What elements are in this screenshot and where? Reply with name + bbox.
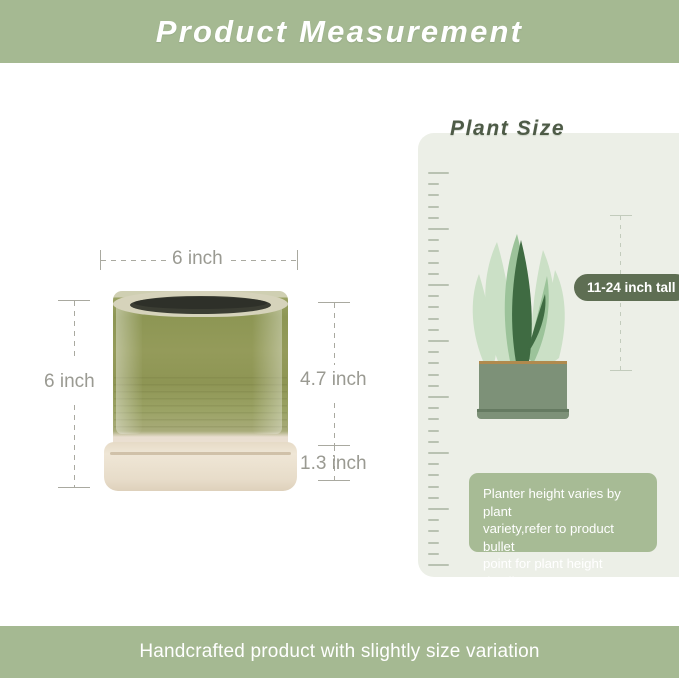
ruler-tick-major	[428, 396, 449, 398]
ruler-tick-minor	[428, 519, 439, 521]
ruler-tick-minor	[428, 441, 439, 443]
ruler-tick-major	[428, 508, 449, 510]
pot-height-label: 4.7 inch	[300, 369, 367, 391]
plant-illustration	[455, 198, 590, 438]
ruler-tick-minor	[428, 318, 439, 320]
saucer-height-label: 1.3 inch	[300, 453, 367, 475]
ruler-tick-major	[428, 284, 449, 286]
ruler-tick-major	[428, 228, 449, 230]
pot-interior-shadow	[134, 297, 267, 309]
ruler-tick-major	[428, 564, 449, 566]
ruler-tick-minor	[428, 486, 439, 488]
ruler-tick-minor	[428, 430, 439, 432]
width-dimension-line-left	[101, 260, 167, 261]
ruler-tick-major	[428, 172, 449, 174]
ruler-tick-minor	[428, 262, 439, 264]
ruler-tick-major	[428, 340, 449, 342]
ruler-tick-minor	[428, 329, 439, 331]
header-banner: Product Measurement	[0, 0, 679, 63]
pot-sheen-left	[116, 299, 142, 434]
height-dimension-line-lower	[74, 405, 75, 487]
width-dimension-line-right	[231, 260, 297, 261]
plant-height-cap-top	[610, 215, 632, 216]
note-line-2: variety,refer to product bullet	[483, 521, 614, 554]
footer-banner: Handcrafted product with slightly size v…	[0, 626, 679, 678]
ruler-tick-minor	[428, 474, 439, 476]
ruler-tick-minor	[428, 239, 439, 241]
ruler-tick-minor	[428, 497, 439, 499]
width-dimension-cap-right	[297, 250, 298, 270]
page-title: Product Measurement	[156, 14, 523, 50]
note-line-3: point for plant height details.	[483, 556, 603, 589]
ruler-tick-minor	[428, 362, 439, 364]
ruler-tick-minor	[428, 418, 439, 420]
plant-size-title: Plant Size	[450, 117, 565, 141]
footer-text: Handcrafted product with slightly size v…	[139, 641, 539, 663]
pot-height-line-upper	[334, 303, 335, 365]
ruler-tick-minor	[428, 351, 439, 353]
planter-pot-image	[104, 291, 297, 491]
height-dimension-line-upper	[74, 301, 75, 361]
plant-height-note-text: Planter height varies by plant variety,r…	[483, 485, 643, 590]
ruler-tick-minor	[428, 295, 439, 297]
ruler-tick-minor	[428, 407, 439, 409]
plant-height-note-box: Planter height varies by plant variety,r…	[469, 473, 657, 552]
ruler-tick-minor	[428, 250, 439, 252]
ruler-tick-minor	[428, 217, 439, 219]
ruler-tick-minor	[428, 194, 439, 196]
pot-saucer-seam	[110, 452, 291, 455]
ruler-tick-minor	[428, 530, 439, 532]
plant-height-line-upper	[620, 216, 621, 276]
pot-height-line-lower	[334, 403, 335, 445]
plant-height-badge: 11-24 inch tall	[574, 274, 679, 301]
snake-plant-svg	[455, 198, 590, 438]
note-line-1: Planter height varies by plant	[483, 486, 621, 519]
pot-saucer	[104, 442, 297, 491]
ruler-tick-minor	[428, 306, 439, 308]
height-dimension-cap-bottom	[58, 487, 90, 488]
ruler-tick-major	[428, 452, 449, 454]
saucer-height-cap-bottom	[318, 480, 350, 481]
plant-height-cap-bottom	[610, 370, 632, 371]
pot-sheen-right	[252, 299, 282, 434]
ruler-tick-minor	[428, 553, 439, 555]
ruler-tick-minor	[428, 206, 439, 208]
product-measurement-diagram: 6 inch 6 inch 4.7 inch 1.3 inch	[0, 63, 410, 626]
ruler-tick-minor	[428, 385, 439, 387]
ruler-tick-minor	[428, 374, 439, 376]
ruler-scale	[428, 172, 452, 572]
ruler-tick-minor	[428, 183, 439, 185]
ruler-tick-minor	[428, 463, 439, 465]
ruler-tick-minor	[428, 273, 439, 275]
height-dimension-label: 6 inch	[44, 371, 95, 393]
ruler-tick-minor	[428, 542, 439, 544]
plant-height-line-lower	[620, 303, 621, 370]
width-dimension-label: 6 inch	[172, 248, 223, 270]
